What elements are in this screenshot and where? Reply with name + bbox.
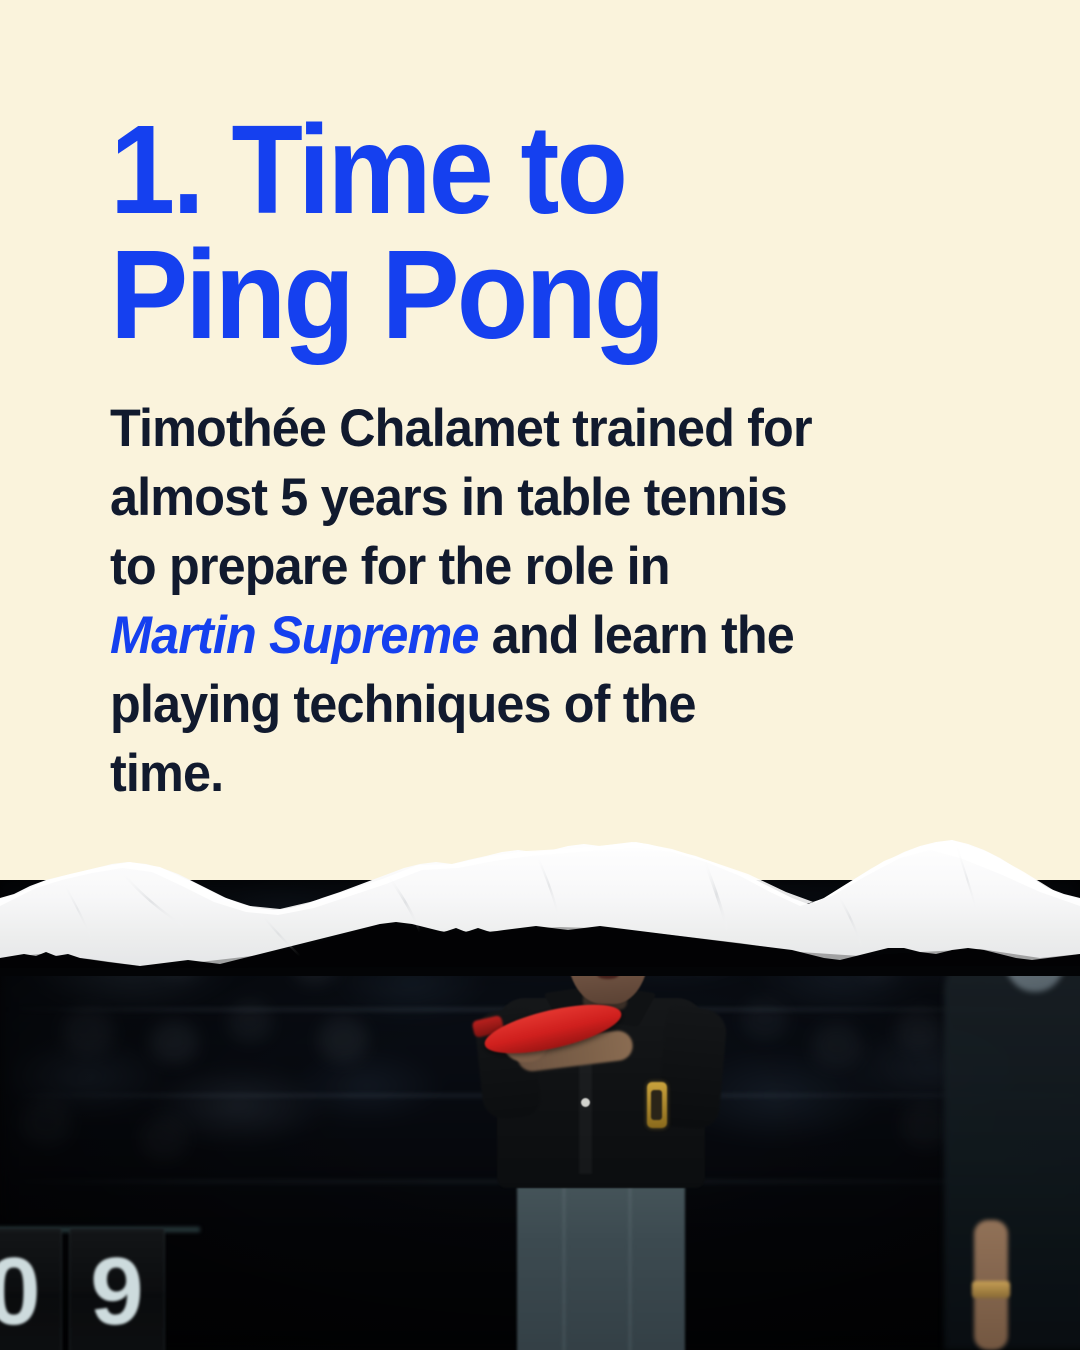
side-spectator-head	[1004, 918, 1066, 992]
photo-region: 0 9	[0, 880, 1080, 1350]
scoreboard-digit: 0	[0, 1228, 62, 1350]
side-spectator-watch	[972, 1281, 1010, 1298]
player-trousers	[517, 1178, 685, 1350]
side-spectator-figure	[944, 950, 1080, 1350]
scoreboard: 0 9	[0, 1228, 165, 1350]
player-figure	[455, 890, 785, 1350]
player-mouth	[597, 969, 619, 979]
shirt-button	[581, 1098, 590, 1107]
page-title: 1. Time to Ping Pong	[110, 108, 910, 357]
body-copy-part-1: Timothée Chalamet trained for almost 5 y…	[110, 399, 812, 596]
player-moustache	[589, 956, 625, 965]
scoreboard-digit: 9	[69, 1228, 165, 1350]
film-title: Martin Supreme	[110, 606, 479, 665]
body-copy: Timothée Chalamet trained for almost 5 y…	[110, 395, 813, 808]
text-panel: 1. Time to Ping Pong Timothée Chalamet t…	[0, 0, 1080, 880]
chest-emblem-inner	[651, 1090, 662, 1120]
eyeglasses-icon	[568, 934, 648, 947]
social-media-slide: 0 9	[0, 0, 1080, 1350]
